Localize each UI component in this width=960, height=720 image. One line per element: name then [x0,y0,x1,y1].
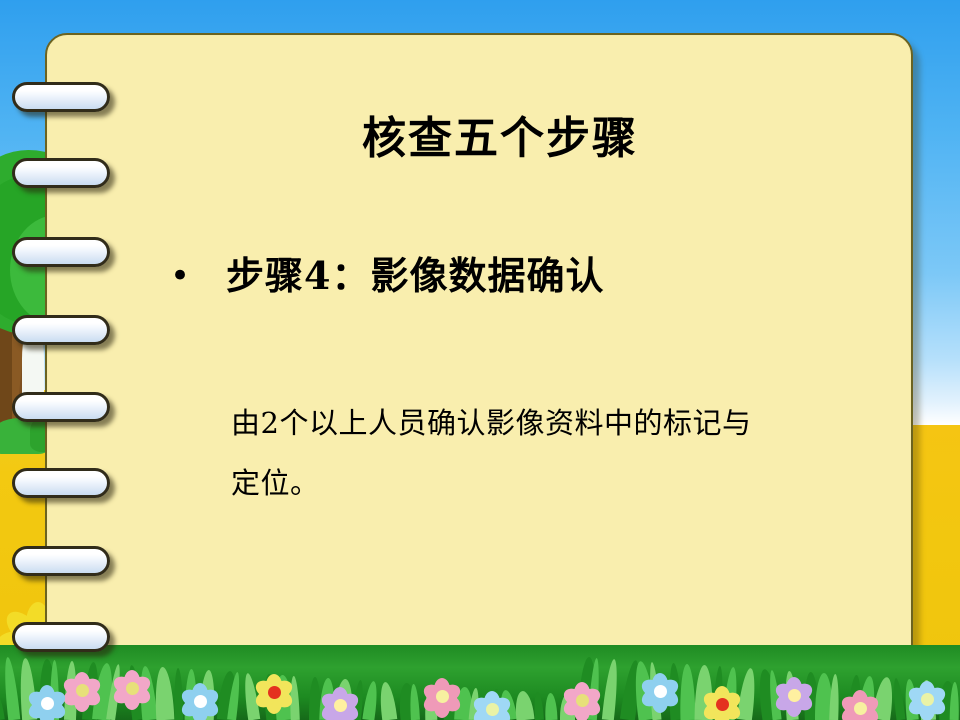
presentation-slide: 核查五个步骤 • 步骤4：影像数据确认 由2个以上人员确认影像资料中的标记与 定… [0,0,960,720]
bottom-flower [838,688,882,720]
bullet-item-label: 步骤4：影像数据确认 [226,252,604,300]
flower-center [126,682,139,695]
spiral-binder-ring-4 [12,315,110,345]
flower-center [76,684,89,697]
spiral-binder-ring-8 [12,622,110,652]
grass-blade [2,657,21,720]
bottom-flower [252,672,296,716]
grass-blade [378,681,398,720]
spiral-binder-ring-1 [12,82,110,112]
spiral-binder-ring-5 [12,392,110,422]
slide-title: 核查五个步骤 [150,115,850,163]
bottom-flower [420,676,464,720]
bottom-flower [110,668,154,712]
flower-center [334,699,347,712]
grass-blade [362,680,379,720]
grass-blade [514,690,535,720]
flower-center [854,702,867,715]
spiral-binder-ring-2 [12,158,110,188]
spiral-binder-ring-6 [12,468,110,498]
flower-center [788,689,801,702]
bottom-flower [700,684,744,720]
bottom-flower [905,679,949,720]
body-paragraph: 由2个以上人员确认影像资料中的标记与 定位。 [231,393,831,513]
bottom-flower [178,681,222,720]
bottom-flower [470,689,514,720]
bullet-item: • 步骤4：影像数据确认 [170,252,604,300]
grass-blade [533,692,544,720]
bottom-flower [318,685,362,720]
flower-center [41,697,54,710]
flower-center [921,693,934,706]
bullet-marker-icon: • [170,252,226,300]
flower-center [486,703,499,716]
body-line: 定位。 [231,453,831,513]
bottom-flower [25,683,69,720]
grass-blade [0,694,5,720]
bottom-flower [772,675,816,719]
flower-center [436,690,449,703]
grass-blade [154,667,175,720]
flower-center [268,686,281,699]
body-line: 由2个以上人员确认影像资料中的标记与 [231,393,831,453]
grass-blade [545,693,558,720]
bottom-flower [560,680,604,720]
bottom-flower [638,671,682,715]
grass-blade [409,684,420,720]
spiral-binder-ring-3 [12,237,110,267]
spiral-binder-ring-7 [12,546,110,576]
flower-center [194,695,207,708]
flower-center [576,694,589,707]
grass-blade [950,682,960,720]
grass-blade [602,659,620,720]
flower-center [716,698,729,711]
flower-center [654,685,667,698]
grass-blade [891,678,905,720]
